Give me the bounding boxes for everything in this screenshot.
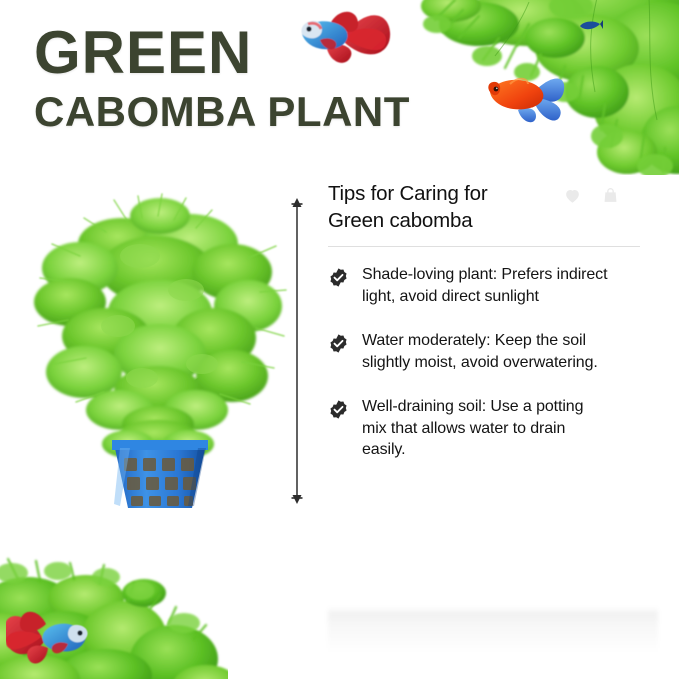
page-subtitle: CABOMBA PLANT — [34, 88, 494, 136]
betta-fish-bottom — [6, 604, 106, 670]
list-item: Well-draining soil: Use a potting mix th… — [328, 396, 648, 461]
tips-header: Tips for Caring for Green cabomba — [328, 180, 648, 234]
bottom-shadow-band — [328, 607, 658, 653]
tips-divider — [328, 246, 640, 247]
tip-text: Water moderately: Keep the soil slightly… — [362, 330, 608, 373]
product-image — [10, 186, 288, 516]
tips-header-icons — [563, 180, 648, 205]
page-title: GREEN — [34, 22, 494, 84]
tip-text: Shade-loving plant: Prefers indirect lig… — [362, 264, 608, 307]
goldfish — [484, 72, 576, 126]
check-circle-icon — [328, 333, 349, 354]
title-block: GREEN CABOMBA PLANT — [34, 22, 494, 136]
small-fish — [578, 18, 604, 34]
check-circle-icon — [328, 399, 349, 420]
list-item: Shade-loving plant: Prefers indirect lig… — [328, 264, 648, 307]
tips-title-line2: Green cabomba — [328, 209, 472, 232]
height-measure-arrow — [290, 198, 304, 504]
list-item: Water moderately: Keep the soil slightly… — [328, 330, 648, 373]
check-circle-icon — [328, 267, 349, 288]
heart-icon[interactable] — [563, 186, 582, 205]
tips-panel: Tips for Caring for Green cabomba — [328, 180, 648, 484]
tip-text: Well-draining soil: Use a potting mix th… — [362, 396, 608, 461]
product-infographic: GREEN CABOMBA PLANT — [0, 0, 679, 679]
tips-list: Shade-loving plant: Prefers indirect lig… — [328, 264, 648, 461]
tips-title: Tips for Caring for Green cabomba — [328, 180, 488, 234]
shopping-bag-icon[interactable] — [601, 186, 620, 205]
tips-title-line1: Tips for Caring for — [328, 182, 488, 205]
